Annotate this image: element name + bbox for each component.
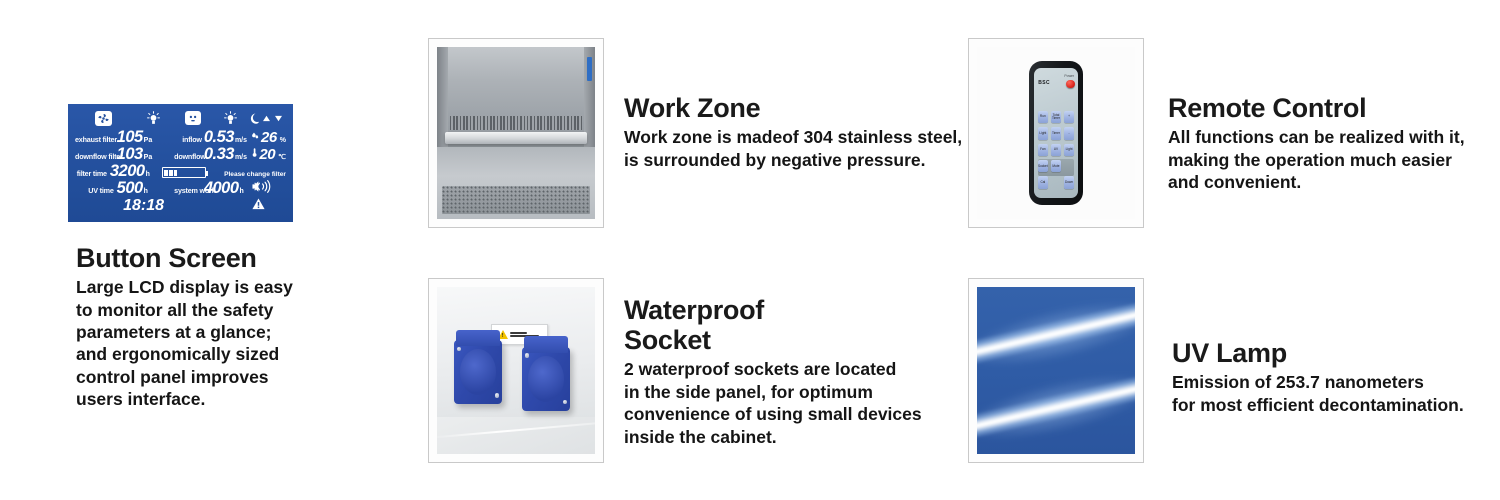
socket-outlet-icon [174, 111, 212, 125]
lcd-icon-row [75, 108, 286, 128]
feature-text-waterproof-socket: Waterproof Socket 2 waterproof sockets a… [624, 295, 944, 448]
downflow-filter-label: downflow filter [75, 152, 117, 161]
speaker-mute-icon [252, 180, 272, 193]
feature-body: 2 waterproof sockets are located in the … [624, 358, 944, 448]
lamp-icon [212, 111, 248, 125]
arrow-down-icon [274, 115, 283, 122]
feature-title: Remote Control [1168, 93, 1498, 123]
feature-title: Work Zone [624, 93, 984, 123]
filter-time-unit: h [146, 171, 150, 178]
remote-button[interactable]: Timer [1051, 127, 1061, 139]
feature-text-work-zone: Work Zone Work zone is madeof 304 stainl… [624, 93, 984, 171]
arrow-up-icon [262, 115, 271, 122]
waterproof-socket-photo [428, 278, 604, 463]
feature-text-remote-control: Remote Control All functions can be real… [1168, 93, 1498, 193]
lcd-reading-row: filter time 3200 h Please change filter [75, 163, 286, 180]
remote-button[interactable]: Socket [1038, 160, 1048, 172]
remote-button[interactable]: Total Timer [1051, 111, 1061, 123]
inflow-label: inflow [174, 135, 204, 144]
change-filter-notice: Please change filter [224, 171, 286, 178]
moon-icon [250, 112, 259, 125]
remote-button-grid: Run Total Timer + Light Timer - Fan UV L… [1038, 111, 1074, 189]
feature-body: All functions can be realized with it, m… [1168, 126, 1498, 193]
feature-showcase: exhaust filter 105 Pa inflow 0.53 m/s 26… [0, 0, 1500, 500]
remote-button[interactable]: Run [1038, 111, 1048, 123]
lamp-icon [132, 111, 174, 125]
socket-right [522, 347, 569, 410]
feature-body: Work zone is madeof 304 stainless steel,… [624, 126, 984, 171]
power-button-label: Power [1064, 74, 1074, 78]
humidity-droplet-icon [252, 130, 259, 142]
work-zone-photo [428, 38, 604, 228]
remote-button[interactable]: Down [1064, 176, 1074, 189]
inflow-value: 0.53 [204, 129, 234, 146]
vent-slots [450, 116, 583, 131]
feature-title: Waterproof Socket [624, 295, 944, 355]
inflow-unit: m/s [235, 137, 247, 144]
exhaust-filter-value: 105 [117, 129, 143, 146]
lcd-reading-row: downflow filter 103 Pa downflow 0.33 m/s… [75, 146, 286, 163]
downflow-label: downflow [174, 152, 204, 161]
lcd-reading-row: exhaust filter 105 Pa inflow 0.53 m/s 26… [75, 129, 286, 146]
exhaust-filter-unit: Pa [144, 137, 153, 144]
temperature-unit: ℃ [278, 153, 286, 161]
power-button[interactable] [1066, 80, 1075, 89]
warning-triangle-icon [252, 198, 265, 210]
lcd-footer-row: 18:18 [75, 197, 286, 214]
remote-button[interactable]: Light [1064, 144, 1074, 156]
thermometer-icon [252, 146, 257, 159]
remote-button[interactable]: Cal [1038, 176, 1048, 189]
feature-title: UV Lamp [1172, 338, 1500, 368]
work-surface-edge [445, 132, 587, 144]
socket-left [454, 340, 501, 403]
uv-time-unit: h [144, 188, 148, 195]
filter-time-label: filter time [75, 169, 110, 178]
lcd-reading-row: UV time 500 h system work 4000 h [75, 180, 286, 197]
filter-time-value: 3200 [110, 163, 145, 180]
downflow-value: 0.33 [204, 146, 234, 163]
exhaust-filter-label: exhaust filter [75, 135, 117, 144]
feature-title: Button Screen [76, 243, 306, 273]
remote-button-placeholder [1064, 160, 1074, 172]
remote-button[interactable]: + [1064, 111, 1074, 123]
downflow-unit: m/s [235, 154, 247, 161]
feature-body: Large LCD display is easy to monitor all… [76, 276, 306, 410]
feature-body: Emission of 253.7 nanometers for most ef… [1172, 371, 1500, 416]
feature-text-uv-lamp: UV Lamp Emission of 253.7 nanometers for… [1172, 338, 1500, 416]
feature-text-button-screen: Button Screen Large LCD display is easy … [76, 243, 306, 411]
remote-button[interactable]: Mute [1051, 160, 1061, 172]
fan-icon [75, 111, 132, 126]
remote-brand-label: BSC [1038, 80, 1050, 86]
lcd-display-panel: exhaust filter 105 Pa inflow 0.53 m/s 26… [68, 104, 293, 222]
remote-button[interactable]: Light [1038, 127, 1048, 139]
system-work-unit: h [240, 188, 244, 195]
system-work-label: system work [174, 186, 204, 195]
filter-life-gauge [162, 167, 206, 178]
lcd-clock: 18:18 [123, 197, 164, 215]
humidity-unit: % [280, 137, 286, 144]
remote-control-photo: BSC Power Run Total Timer + Light Timer … [968, 38, 1144, 228]
downflow-filter-unit: Pa [144, 154, 153, 161]
uv-time-label: UV time [75, 186, 117, 195]
remote-button[interactable]: UV [1051, 144, 1061, 156]
perforated-grille [442, 186, 591, 214]
uv-time-value: 500 [117, 180, 143, 197]
uv-lamp-photo [968, 278, 1144, 463]
blue-accent-strip [587, 57, 592, 81]
remote-button[interactable]: - [1064, 127, 1074, 139]
remote-button-placeholder [1051, 176, 1061, 189]
humidity-value: 26 [261, 130, 277, 145]
remote-button[interactable]: Fan [1038, 144, 1048, 156]
temperature-value: 20 [259, 147, 275, 162]
